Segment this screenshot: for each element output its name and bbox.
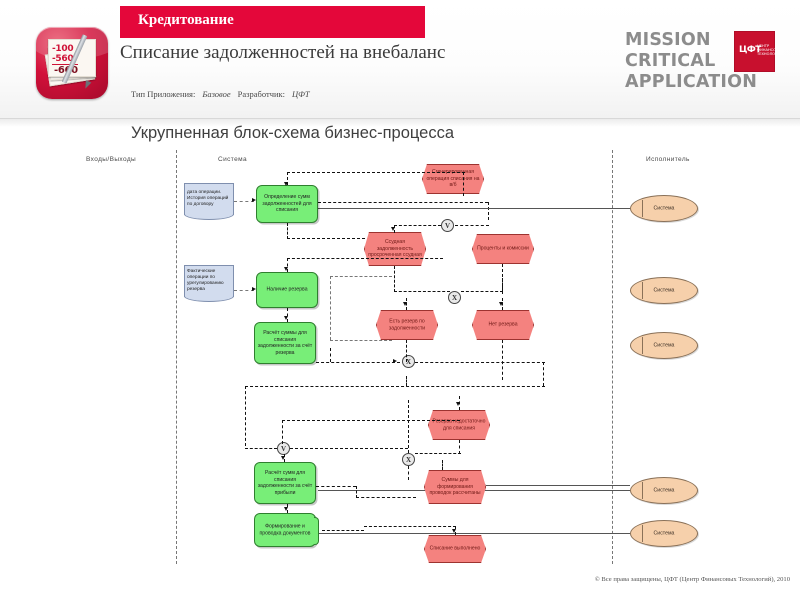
event-label: Списание выполнено [425,546,485,553]
connector-event8-actor [486,533,630,534]
edge-arrow [284,267,288,271]
edge-xor2-drop [543,362,544,386]
edge-event6-down [459,440,460,454]
slide-title: Укрупненная блок-схема бизнес-процесса [131,124,454,143]
edge-proc5-right [322,530,364,531]
app-icon: -100 -560 -660 [36,27,108,99]
edge-top-rail [287,172,465,173]
event-no-reserve[interactable]: Нет резерва [472,310,534,340]
edge-event6-to-xor3 [415,453,461,454]
edge-light-top [330,276,392,277]
edge-arrow [284,182,288,186]
event-generated-writeoff-operation[interactable]: Сгенерированная операция списания на в/б [422,164,484,194]
edge-event4-down [406,340,407,362]
doc1-connector [234,201,254,202]
lane-divider-left [176,150,177,564]
process-label: Наличие резерва [257,287,317,294]
edge-xor3-down [408,466,409,480]
developer-value: ЦФТ [292,89,310,99]
edge-rail-2 [282,420,460,421]
connector-event1-actor [484,208,630,209]
edge-light-left [330,276,331,340]
event-loan-debt-overdue[interactable]: Ссудная задолженность просроченная ссудн… [364,232,426,266]
edge-main-rail [245,386,545,387]
edge-rail-left-drop [245,386,246,446]
edge-event2-down [394,266,395,292]
actor-system-1[interactable]: Система [630,195,698,222]
process-label: Формирование и проводка документов [255,523,315,536]
edge-xor3-top-feed [408,400,409,453]
edge-arrow [403,302,407,306]
doc2-connector [234,290,254,291]
edge-proc3-stub [330,348,331,362]
process-determine-debt-amounts[interactable]: Определение сумм задолженностей для спис… [256,185,318,223]
edge-to-event2 [287,238,365,239]
edge-proc3-right [316,362,400,363]
mission-critical-logo: MISSION CRITICAL APPLICATION ЦФТ ЦЕНТР Ф… [625,30,775,100]
developer-label: Разработчик: [238,89,285,99]
edge-arrow [284,507,288,511]
event-interest-and-fees[interactable]: Проценты и комиссии [472,234,534,264]
process-calc-writeoff-from-profit[interactable]: Расчёт сумм для списания задолженности з… [254,462,316,504]
lane-divider-right [612,150,613,564]
event-label: Нет резерва [473,322,533,329]
actor-system-2[interactable]: Система [630,277,698,304]
edge-event3-to-xor1 [461,291,503,292]
event-reserve-exists[interactable]: Есть резерв по задолженности [376,310,438,340]
document-operation-history: дата операции. История операций по догов… [184,183,234,215]
icon-amount-1: -100 [52,44,73,54]
actor-label: Система [631,487,697,494]
edge-proc1-right [318,202,488,203]
footer-copyright: © Все права защищены, ЦФТ (Центр Финансо… [595,576,790,583]
document-label: дата операции. История операций по догов… [185,190,233,208]
actor-label: Система [631,205,697,212]
process-reserve-availability[interactable]: Наличие резерва [256,272,318,308]
edge-arrow [456,402,460,406]
process-label: Расчёт сумм для списания задолженности з… [255,470,315,496]
edge-proc4-right [316,486,356,487]
edge-top-right-drop [463,172,464,196]
junction-xor-2[interactable]: X [402,355,415,368]
connector-event7-actor [486,485,630,486]
cft-badge-subtext: ЦЕНТР ФИНАНСОВЫХ ТЕХНОЛОГИЙ [757,44,774,56]
category-tag: Кредитование [120,6,425,38]
event-writeoff-completed[interactable]: Списание выполнено [424,535,486,563]
document-reserve-operations: Фактические операции по урегулированию р… [184,265,234,297]
actor-label: Система [631,287,697,294]
junction-xor-1[interactable]: X [448,291,461,304]
edge-to-event7 [356,497,416,498]
process-create-post-documents[interactable]: Формирование и проводка документов [254,513,316,547]
edge-arrow [499,302,503,306]
page-header: -100 -560 -660 Кредитование Списание зад… [0,0,800,118]
actor-system-5[interactable]: Система [630,520,698,547]
app-type-label: Тип Приложения: [131,89,195,99]
process-calc-writeoff-from-reserve[interactable]: Расчёт суммы для списания задолженности … [254,322,316,364]
document-wave [184,213,234,220]
edge-arrow [452,529,456,533]
edge-arrow [393,359,397,363]
edge-rail2-drop [282,420,283,444]
actor-system-4[interactable]: Система [630,477,698,504]
process-label: Определение сумм задолженностей для спис… [257,194,317,214]
edge-proc2-top-rail [287,258,443,259]
edge-arrow [281,456,285,460]
edge-event2-to-xor1 [394,291,450,292]
lane-header-system: Система [218,156,247,163]
edge-to-or2 [245,448,277,449]
document-meta: Тип Приложения:БазовоеРазработчик:ЦФТ [131,89,310,99]
edge-xor1-branch [502,278,503,294]
lane-header-actor: Исполнитель [646,156,690,163]
document-wave [184,295,234,302]
event-label: Проценты и комиссии [473,246,533,253]
edge-arrow [391,227,395,231]
edge-proc1-bottom [287,223,288,239]
logo-line-3: APPLICATION [625,72,775,93]
page-title: Списание задолженностей на внебаланс [120,42,600,64]
pen-tip-icon [83,80,92,90]
edge-junc1-right [455,225,489,226]
edge-rail-tick [406,376,407,386]
app-type-value: Базовое [202,89,230,99]
event-label: Ссудная задолженность просроченная ссудн… [365,239,425,259]
edge-arrow [284,316,288,320]
actor-system-3[interactable]: Система [630,332,698,359]
junction-or-1[interactable]: V [441,219,454,232]
event-reserve-insufficient[interactable]: Резерва недостаточно для списания [428,410,490,440]
process-label: Расчёт суммы для списания задолженности … [255,330,315,356]
edge-to-event8 [364,526,456,527]
business-process-diagram: Входы/Выходы Система Исполнитель дата оп… [0,150,800,570]
edge-drop-to-junc1 [488,202,489,220]
event-amounts-calculated[interactable]: Суммы для формирования проводок рассчита… [424,470,486,504]
actor-label: Система [631,342,697,349]
edge-xor2-right [415,362,545,363]
edge-or2-right [290,448,408,449]
lane-header-inputs: Входы/Выходы [86,156,136,163]
edge-into-event7 [442,460,443,470]
event-label: Есть резерв по задолженности [377,318,437,331]
edge-junc1-left [394,225,441,226]
edge-event5-down [502,340,503,380]
document-label: Фактические операции по урегулированию р… [185,269,233,293]
junction-xor-3[interactable]: X [402,453,415,466]
cft-badge-icon: ЦФТ ЦЕНТР ФИНАНСОВЫХ ТЕХНОЛОГИЙ [734,31,775,72]
actor-label: Система [631,530,697,537]
edge-light-bottom [330,340,392,341]
event-label: Суммы для формирования проводок рассчита… [425,477,485,497]
